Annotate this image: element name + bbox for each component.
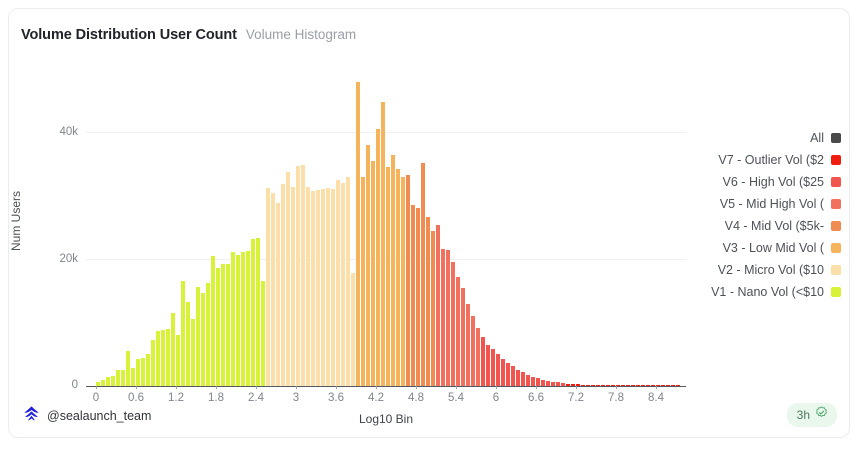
histogram-bar[interactable] bbox=[361, 177, 365, 386]
histogram-bar[interactable] bbox=[306, 187, 310, 386]
x-tick-mark bbox=[576, 386, 577, 389]
histogram-bar[interactable] bbox=[176, 335, 180, 386]
histogram-bar[interactable] bbox=[356, 82, 360, 386]
x-tick-mark bbox=[616, 386, 617, 389]
legend-item[interactable]: V3 - Low Mid Vol ( bbox=[665, 239, 841, 256]
x-tick-mark bbox=[296, 386, 297, 389]
histogram-bar[interactable] bbox=[201, 293, 205, 386]
histogram-bar[interactable] bbox=[226, 264, 230, 386]
histogram-bar[interactable] bbox=[116, 370, 120, 386]
histogram-bar[interactable] bbox=[531, 377, 535, 387]
legend-item-label: V7 - Outlier Vol ($2 bbox=[718, 153, 824, 167]
histogram-bar[interactable] bbox=[411, 205, 415, 386]
histogram-bar[interactable] bbox=[221, 264, 225, 386]
legend-swatch bbox=[831, 287, 841, 297]
legend-swatch bbox=[831, 199, 841, 209]
histogram-bar[interactable] bbox=[241, 252, 245, 386]
histogram-bar[interactable] bbox=[391, 155, 395, 386]
histogram-bar[interactable] bbox=[326, 188, 330, 386]
histogram-bar[interactable] bbox=[331, 189, 335, 386]
legend-item-label: V1 - Nano Vol (<$10 bbox=[711, 285, 824, 299]
x-tick-mark bbox=[416, 386, 417, 389]
histogram-bar[interactable] bbox=[426, 217, 430, 386]
histogram-bar[interactable] bbox=[501, 359, 505, 386]
status-badge: 3h bbox=[787, 403, 837, 427]
histogram-bar[interactable] bbox=[151, 340, 155, 386]
histogram-bar[interactable] bbox=[261, 281, 265, 386]
y-tick-label: 0 bbox=[18, 379, 78, 391]
histogram-bar[interactable] bbox=[286, 172, 290, 386]
legend-swatch bbox=[831, 243, 841, 253]
chart-card: Volume Distribution User Count Volume Hi… bbox=[8, 8, 850, 438]
histogram-bar[interactable] bbox=[396, 169, 400, 386]
histogram-bar[interactable] bbox=[271, 193, 275, 386]
histogram-bar[interactable] bbox=[311, 191, 315, 386]
histogram-bar[interactable] bbox=[266, 188, 270, 386]
x-tick-mark bbox=[256, 386, 257, 389]
author-handle[interactable]: @sealaunch_team bbox=[23, 405, 151, 427]
histogram-bar[interactable] bbox=[386, 167, 390, 386]
histogram-bar[interactable] bbox=[381, 102, 385, 386]
histogram-bar[interactable] bbox=[481, 337, 485, 386]
histogram-bar[interactable] bbox=[246, 251, 250, 386]
legend-swatch bbox=[831, 133, 841, 143]
histogram-bar[interactable] bbox=[166, 329, 170, 386]
x-tick-mark bbox=[496, 386, 497, 389]
histogram-bar[interactable] bbox=[431, 231, 435, 386]
histogram-bar[interactable] bbox=[401, 177, 405, 386]
histogram-bar[interactable] bbox=[191, 319, 195, 386]
histogram-bar[interactable] bbox=[236, 255, 240, 386]
histogram-bar[interactable] bbox=[526, 375, 530, 386]
histogram-bar[interactable] bbox=[156, 331, 160, 386]
histogram-bar[interactable] bbox=[461, 288, 465, 386]
histogram-bar[interactable] bbox=[446, 250, 450, 386]
histogram-bar[interactable] bbox=[321, 189, 325, 386]
legend-item-label: V6 - High Vol ($25 bbox=[723, 175, 824, 189]
histogram-bar[interactable] bbox=[211, 256, 215, 386]
histogram-bar[interactable] bbox=[451, 262, 455, 386]
x-tick-mark bbox=[96, 386, 97, 389]
histogram-bar[interactable] bbox=[476, 328, 480, 386]
legend-item[interactable]: V5 - Mid High Vol ( bbox=[665, 195, 841, 212]
legend-swatch bbox=[831, 177, 841, 187]
histogram-bar[interactable] bbox=[231, 252, 235, 386]
legend-item[interactable]: All bbox=[665, 129, 841, 146]
histogram-bar[interactable] bbox=[251, 239, 255, 386]
histogram-bar[interactable] bbox=[436, 225, 440, 386]
histogram-bar[interactable] bbox=[196, 287, 200, 386]
y-axis-label: Num Users bbox=[9, 191, 23, 251]
x-tick-mark bbox=[216, 386, 217, 389]
histogram-bar[interactable] bbox=[521, 372, 525, 386]
legend-item[interactable]: V6 - High Vol ($25 bbox=[665, 173, 841, 190]
legend-item-label: V3 - Low Mid Vol ( bbox=[723, 241, 824, 255]
histogram-bar[interactable] bbox=[296, 166, 300, 386]
legend-item[interactable]: V1 - Nano Vol (<$10 bbox=[665, 283, 841, 300]
histogram-bar[interactable] bbox=[136, 359, 140, 386]
histogram-bar[interactable] bbox=[146, 354, 150, 386]
x-tick-mark bbox=[536, 386, 537, 389]
sealaunch-logo-icon bbox=[23, 405, 40, 427]
histogram-bar[interactable] bbox=[341, 183, 345, 386]
legend-item-label: All bbox=[810, 131, 824, 145]
histogram-bar[interactable] bbox=[106, 377, 110, 387]
histogram-bar[interactable] bbox=[141, 358, 145, 386]
verified-check-icon bbox=[815, 406, 828, 424]
histogram-bar[interactable] bbox=[281, 184, 285, 386]
histogram-bar[interactable] bbox=[111, 376, 115, 386]
legend-item[interactable]: V4 - Mid Vol ($5k- bbox=[665, 217, 841, 234]
legend-item[interactable]: V7 - Outlier Vol ($2 bbox=[665, 151, 841, 168]
chart-footer: @sealaunch_team 3h bbox=[9, 395, 850, 437]
histogram-bar[interactable] bbox=[216, 268, 220, 386]
histogram-bar[interactable] bbox=[186, 302, 190, 386]
histogram-bars bbox=[86, 69, 686, 386]
histogram-bar[interactable] bbox=[181, 281, 185, 386]
legend-swatch bbox=[831, 221, 841, 231]
histogram-bar[interactable] bbox=[421, 163, 425, 386]
histogram-bar[interactable] bbox=[206, 283, 210, 386]
histogram-bar[interactable] bbox=[346, 177, 350, 386]
legend-item-label: V2 - Micro Vol ($10 bbox=[718, 263, 824, 277]
histogram-bar[interactable] bbox=[256, 238, 260, 386]
y-tick-label: 40k bbox=[18, 126, 78, 138]
y-tick-label: 20k bbox=[18, 253, 78, 265]
x-tick-mark bbox=[336, 386, 337, 389]
histogram-bar[interactable] bbox=[336, 180, 340, 386]
histogram-bar[interactable] bbox=[511, 366, 515, 386]
histogram-bar[interactable] bbox=[536, 378, 540, 386]
histogram-bar[interactable] bbox=[366, 145, 370, 386]
legend-swatch bbox=[831, 265, 841, 275]
histogram-bar[interactable] bbox=[466, 304, 470, 386]
histogram-bar[interactable] bbox=[471, 316, 475, 386]
histogram-bar[interactable] bbox=[301, 165, 305, 386]
legend-item[interactable]: V2 - Micro Vol ($10 bbox=[665, 261, 841, 278]
histogram-bar[interactable] bbox=[506, 363, 510, 386]
badge-time-text: 3h bbox=[797, 408, 810, 422]
histogram-bar[interactable] bbox=[406, 175, 410, 386]
legend-item-label: V5 - Mid High Vol ( bbox=[720, 197, 824, 211]
histogram-bar[interactable] bbox=[516, 370, 520, 386]
histogram-bar[interactable] bbox=[171, 313, 175, 386]
histogram-bar[interactable] bbox=[416, 208, 420, 386]
histogram-bar[interactable] bbox=[456, 277, 460, 386]
x-tick-mark bbox=[176, 386, 177, 389]
x-tick-mark bbox=[376, 386, 377, 389]
histogram-bar[interactable] bbox=[276, 203, 280, 386]
histogram-bar[interactable] bbox=[316, 190, 320, 386]
histogram-bar[interactable] bbox=[121, 370, 125, 386]
x-tick-mark bbox=[136, 386, 137, 389]
histogram-bar[interactable] bbox=[371, 161, 375, 386]
chart-legend[interactable]: AllV7 - Outlier Vol ($2V6 - High Vol ($2… bbox=[665, 129, 841, 300]
histogram-bar[interactable] bbox=[131, 368, 135, 386]
handle-text: @sealaunch_team bbox=[47, 409, 151, 423]
x-tick-mark bbox=[456, 386, 457, 389]
histogram-bar[interactable] bbox=[376, 129, 380, 386]
histogram-bar[interactable] bbox=[161, 330, 165, 386]
histogram-bar[interactable] bbox=[486, 345, 490, 386]
histogram-bar[interactable] bbox=[491, 349, 495, 386]
x-tick-mark bbox=[656, 386, 657, 389]
histogram-bar[interactable] bbox=[496, 354, 500, 386]
histogram-bar[interactable] bbox=[441, 249, 445, 386]
legend-item-label: V4 - Mid Vol ($5k- bbox=[725, 219, 824, 233]
histogram-bar[interactable] bbox=[126, 351, 130, 386]
histogram-bar[interactable] bbox=[291, 187, 295, 386]
legend-swatch bbox=[831, 155, 841, 165]
histogram-bar[interactable] bbox=[351, 273, 355, 386]
